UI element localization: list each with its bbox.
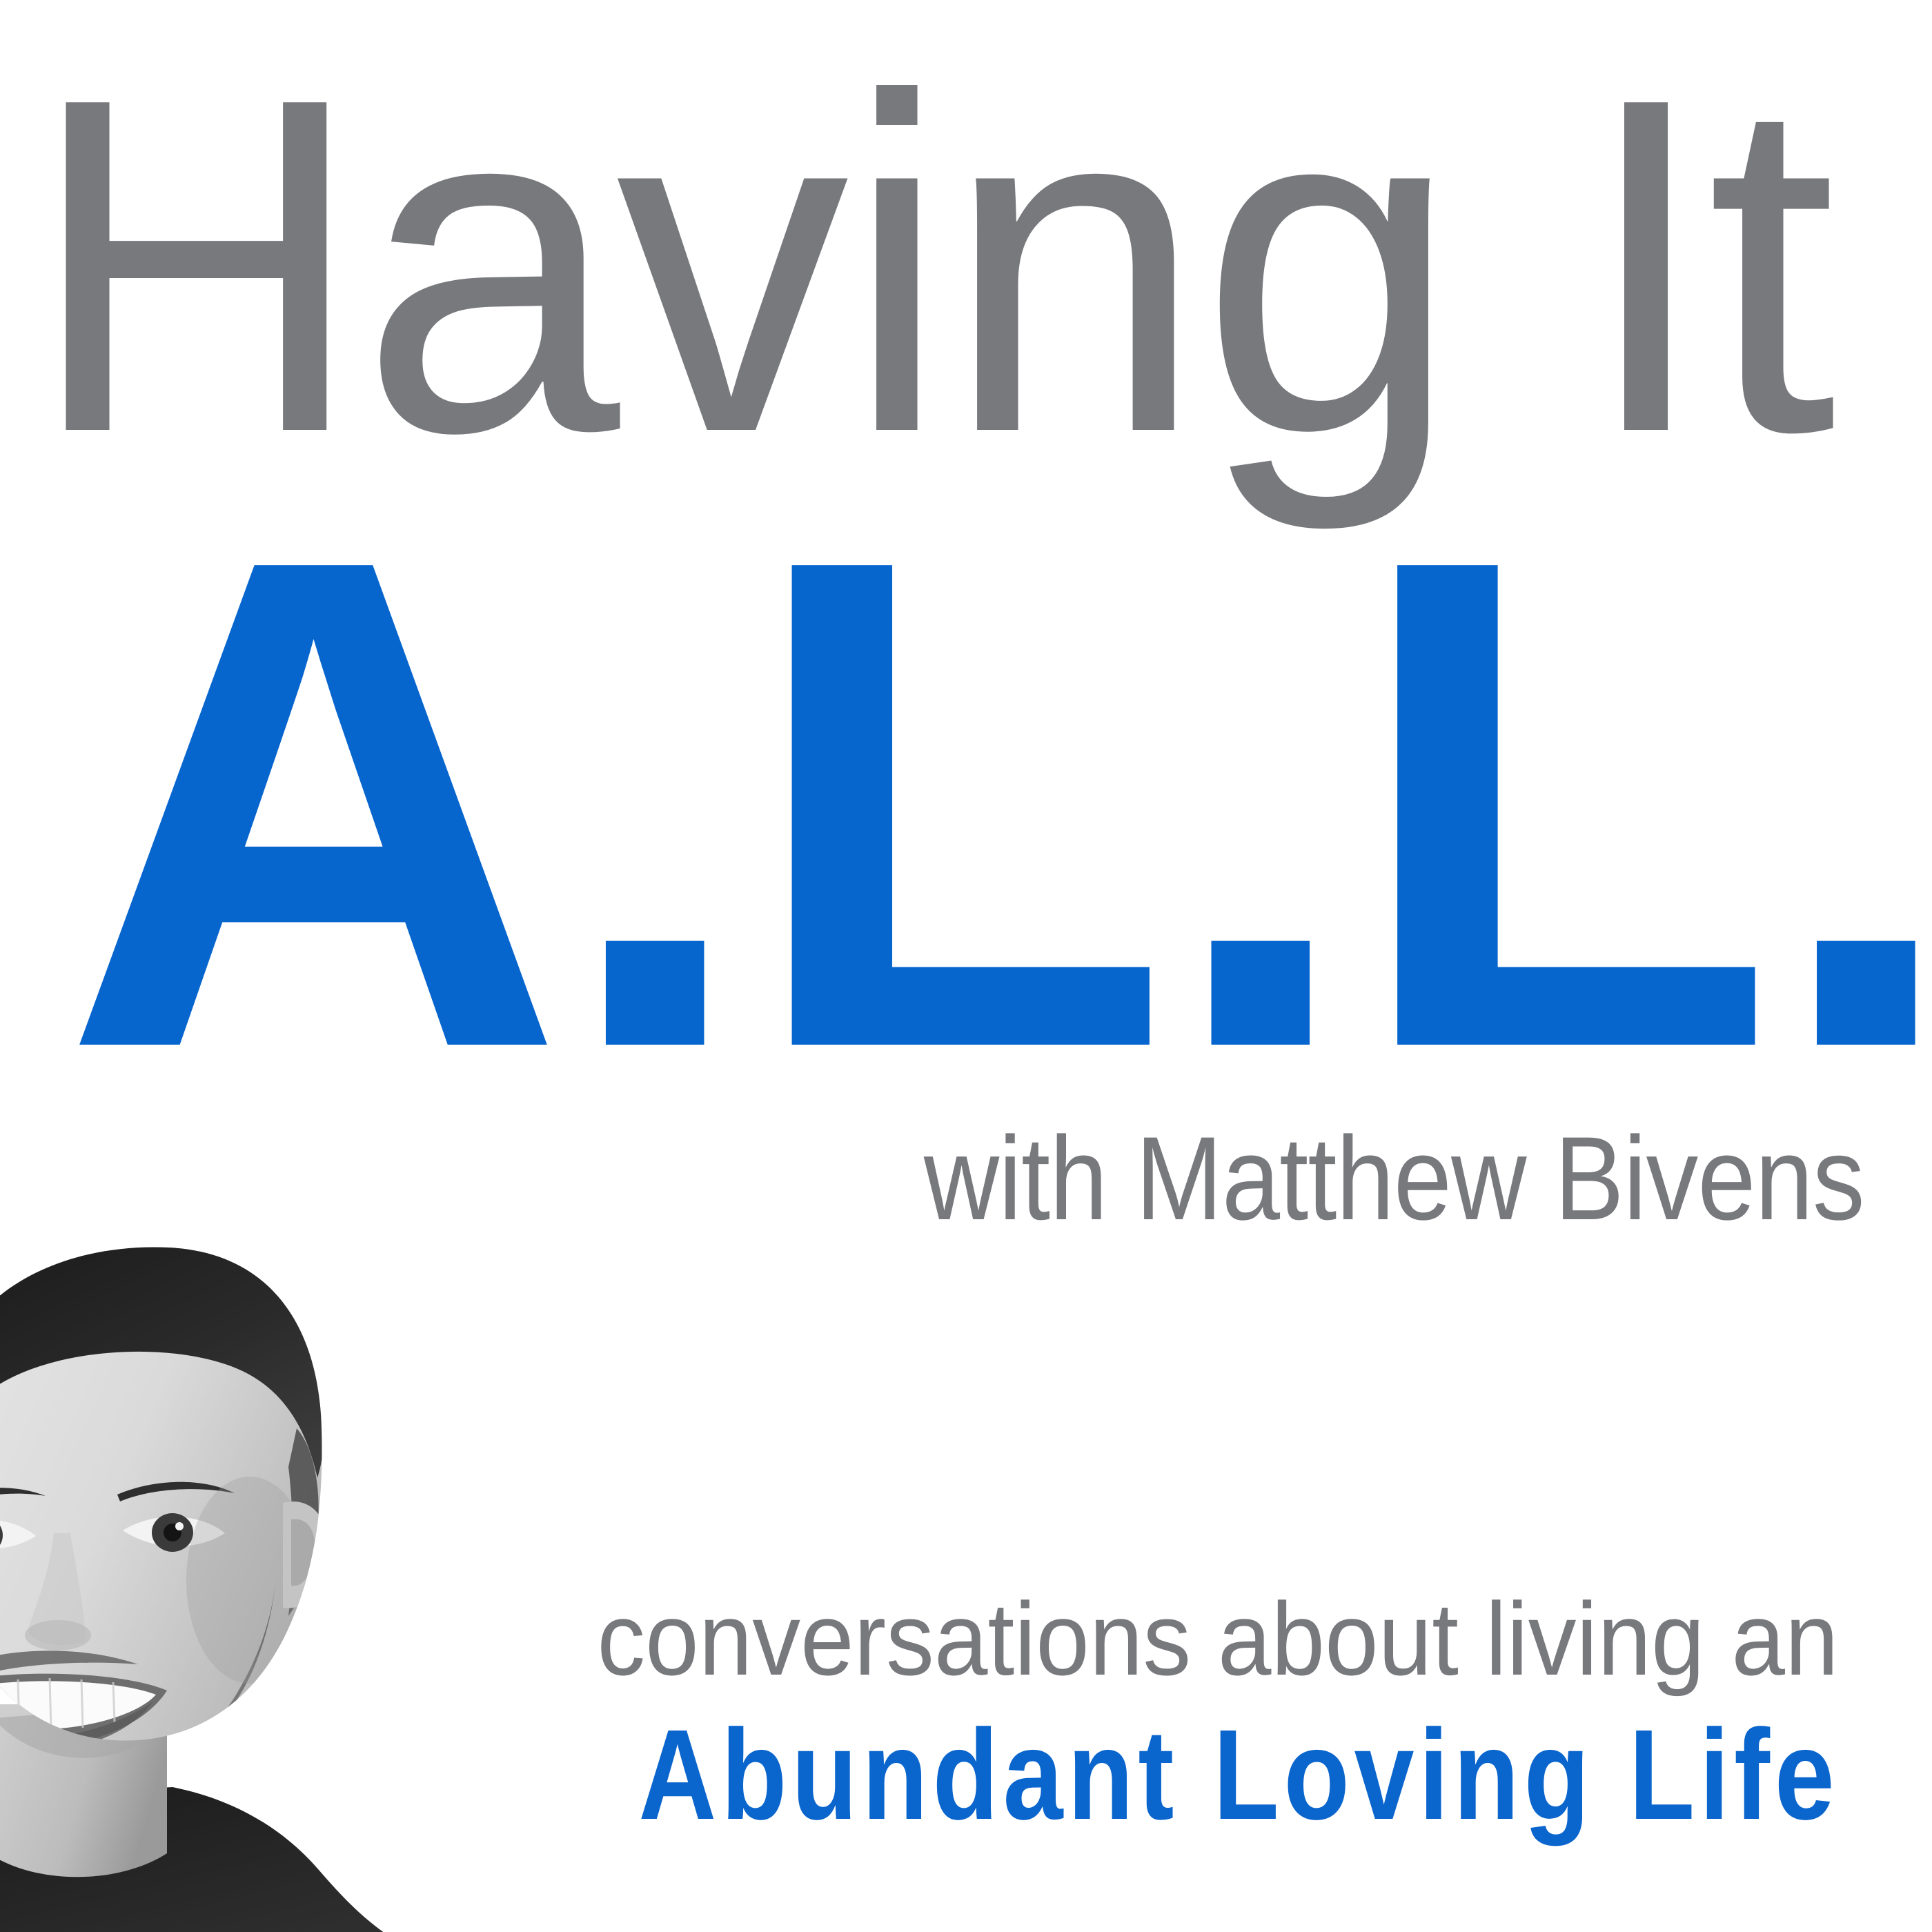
tagline-line-1: conversations about living an [598, 1587, 1839, 1690]
podcast-title-acronym: A.L.L. [62, 455, 1925, 1152]
host-portrait-photo [0, 1221, 435, 1932]
podcast-cover-art: Having It A.L.L. with Matthew Bivens [0, 0, 1932, 1932]
tagline-line-2: Abundant Loving Life [638, 1711, 1839, 1840]
host-byline: with Matthew Bivens [924, 1119, 1864, 1238]
